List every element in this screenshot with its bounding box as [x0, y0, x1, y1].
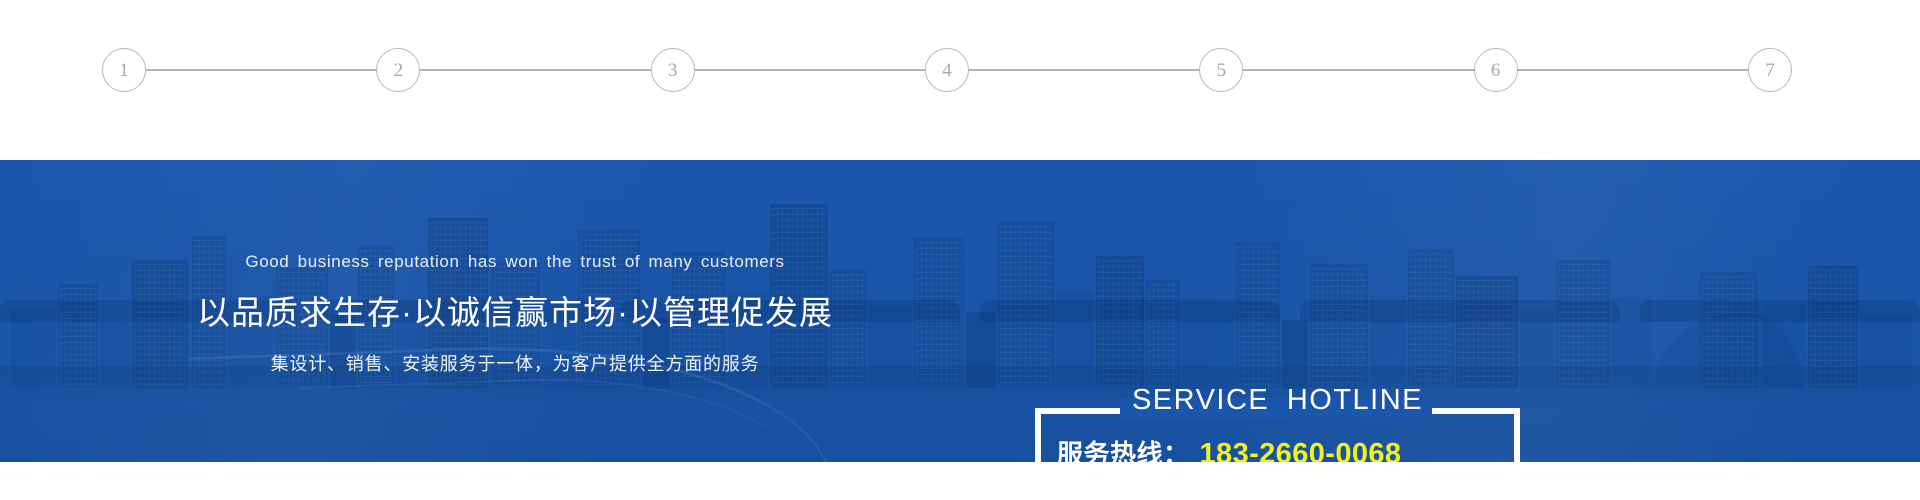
pagination-item-label: 7	[1765, 61, 1775, 80]
hotline-number-primary[interactable]: 183-2660-0068	[1200, 438, 1402, 462]
pagination-item-label: 4	[942, 61, 952, 80]
promo-banner: Good business reputation has won the tru…	[0, 160, 1920, 462]
pagination-track: 1 2 3 4 5 6 7	[124, 69, 1770, 71]
pagination-item-label: 2	[394, 61, 404, 80]
hotline-rows: 服务热线： 183-2660-0068 0551-63749777	[1035, 434, 1520, 462]
slogan-subline: 集设计、销售、安装服务于一体，为客户提供全方面的服务	[271, 350, 760, 376]
pagination-strip: 1 2 3 4 5 6 7	[0, 0, 1920, 160]
pagination-item-6[interactable]: 6	[1474, 48, 1518, 92]
pagination-item-label: 6	[1491, 61, 1501, 80]
pagination-item-label: 5	[1217, 61, 1227, 80]
hotline-title-notch	[1120, 398, 1432, 418]
slogan-block: Good business reputation has won the tru…	[0, 160, 1030, 462]
pagination-item-label: 3	[668, 61, 678, 80]
pagination-item-3[interactable]: 3	[651, 48, 695, 92]
pagination-item-7[interactable]: 7	[1748, 48, 1792, 92]
hotline-label: 服务热线：	[1057, 434, 1190, 462]
pagination-item-1[interactable]: 1	[102, 48, 146, 92]
pagination-item-5[interactable]: 5	[1199, 48, 1243, 92]
hotline-row-primary: 服务热线： 183-2660-0068	[1057, 434, 1498, 462]
pagination-item-2[interactable]: 2	[376, 48, 420, 92]
pagination-item-label: 1	[119, 61, 129, 80]
slogan-headline: 以品质求生存·以诚信赢市场·以管理促发展	[197, 286, 833, 334]
slogan-english-line: Good business reputation has won the tru…	[245, 252, 784, 272]
service-hotline-box: SERVICE HOTLINE 服务热线： 183-2660-0068 0551…	[1035, 408, 1520, 462]
pagination-item-4[interactable]: 4	[925, 48, 969, 92]
